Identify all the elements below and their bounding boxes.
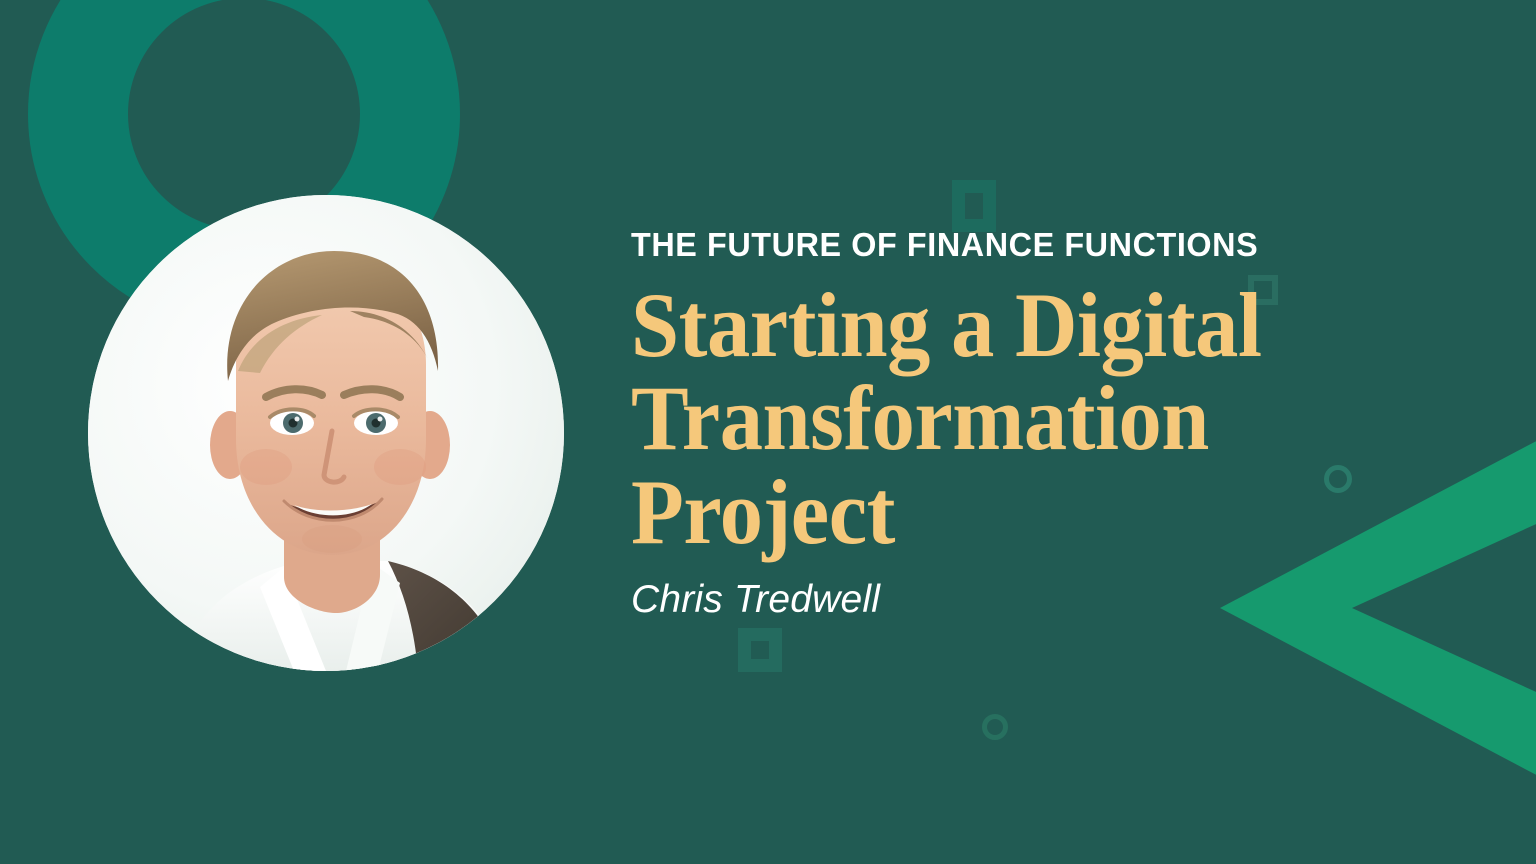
title-line-1: Starting a Digital xyxy=(631,279,1374,373)
slide-eyebrow: THE FUTURE OF FINANCE FUNCTIONS xyxy=(631,228,1405,263)
speaker-portrait xyxy=(88,195,564,671)
slide-text-block: THE FUTURE OF FINANCE FUNCTIONS Starting… xyxy=(631,228,1421,622)
slide-title: Starting a Digital Transformation Projec… xyxy=(631,279,1374,560)
portrait-photo xyxy=(88,195,564,671)
presentation-slide: THE FUTURE OF FINANCE FUNCTIONS Starting… xyxy=(0,0,1536,864)
title-line-2: Transformation xyxy=(631,372,1374,466)
square-outline-decoration-3 xyxy=(738,628,782,672)
speaker-name: Chris Tredwell xyxy=(631,578,1421,622)
square-outline-decoration-1 xyxy=(952,180,996,232)
title-line-3: Project xyxy=(631,466,1374,560)
small-ring-decoration-2 xyxy=(982,714,1008,740)
